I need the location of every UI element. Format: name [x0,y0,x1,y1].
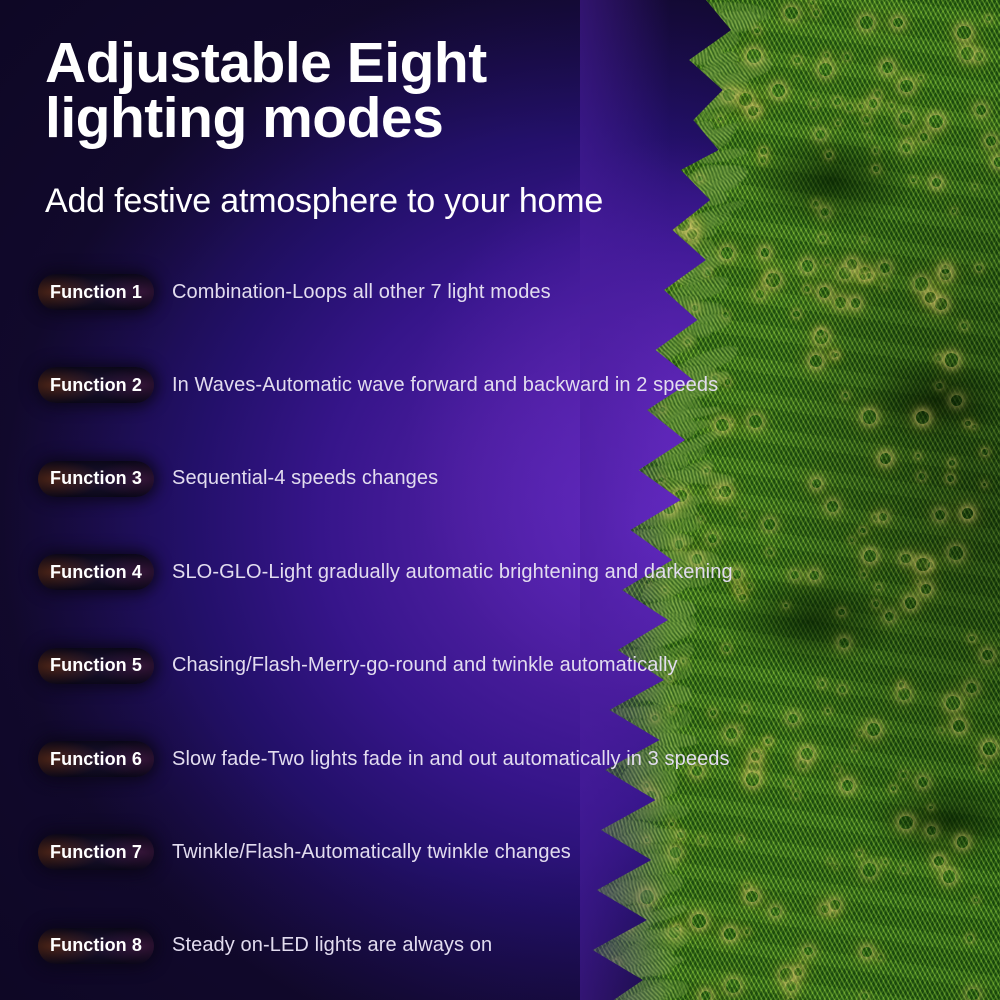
content-overlay: Adjustable Eight lighting modes Add fest… [0,0,1000,1000]
page-title-line-2: lighting modes [45,91,645,146]
function-description: In Waves-Automatic wave forward and back… [172,374,718,397]
function-row: Function 6Slow fade-Two lights fade in a… [38,740,730,778]
function-row: Function 3Sequential-4 speeds changes [38,460,438,498]
function-badge-3: Function 3 [38,461,154,497]
function-badge-label: Function 6 [50,749,142,770]
function-description: Slow fade-Two lights fade in and out aut… [172,748,730,771]
function-row: Function 5Chasing/Flash-Merry-go-round a… [38,647,678,685]
function-badge-2: Function 2 [38,367,154,403]
function-badge-label: Function 4 [50,562,142,583]
function-badge-label: Function 1 [50,282,142,303]
function-badge-4: Function 4 [38,554,154,590]
page-subtitle: Add festive atmosphere to your home [45,182,603,221]
function-badge-5: Function 5 [38,648,154,684]
function-badge-label: Function 5 [50,655,142,676]
page-title: Adjustable Eight lighting modes [45,36,645,147]
function-row: Function 4SLO-GLO-Light gradually automa… [38,553,733,591]
function-badge-7: Function 7 [38,834,154,870]
function-badge-6: Function 6 [38,741,154,777]
function-row: Function 1Combination-Loops all other 7 … [38,273,551,311]
function-badge-8: Function 8 [38,928,154,964]
function-row: Function 7Twinkle/Flash-Automatically tw… [38,833,571,871]
function-row: Function 2In Waves-Automatic wave forwar… [38,366,718,404]
function-badge-1: Function 1 [38,274,154,310]
function-description: Combination-Loops all other 7 light mode… [172,281,551,304]
function-badge-label: Function 8 [50,935,142,956]
function-description: SLO-GLO-Light gradually automatic bright… [172,561,733,584]
function-description: Chasing/Flash-Merry-go-round and twinkle… [172,654,678,677]
function-description: Sequential-4 speeds changes [172,467,438,490]
function-badge-label: Function 3 [50,468,142,489]
function-badge-label: Function 2 [50,375,142,396]
function-row: Function 8Steady on-LED lights are alway… [38,927,492,965]
function-description: Twinkle/Flash-Automatically twinkle chan… [172,841,571,864]
function-description: Steady on-LED lights are always on [172,934,492,957]
function-badge-label: Function 7 [50,842,142,863]
